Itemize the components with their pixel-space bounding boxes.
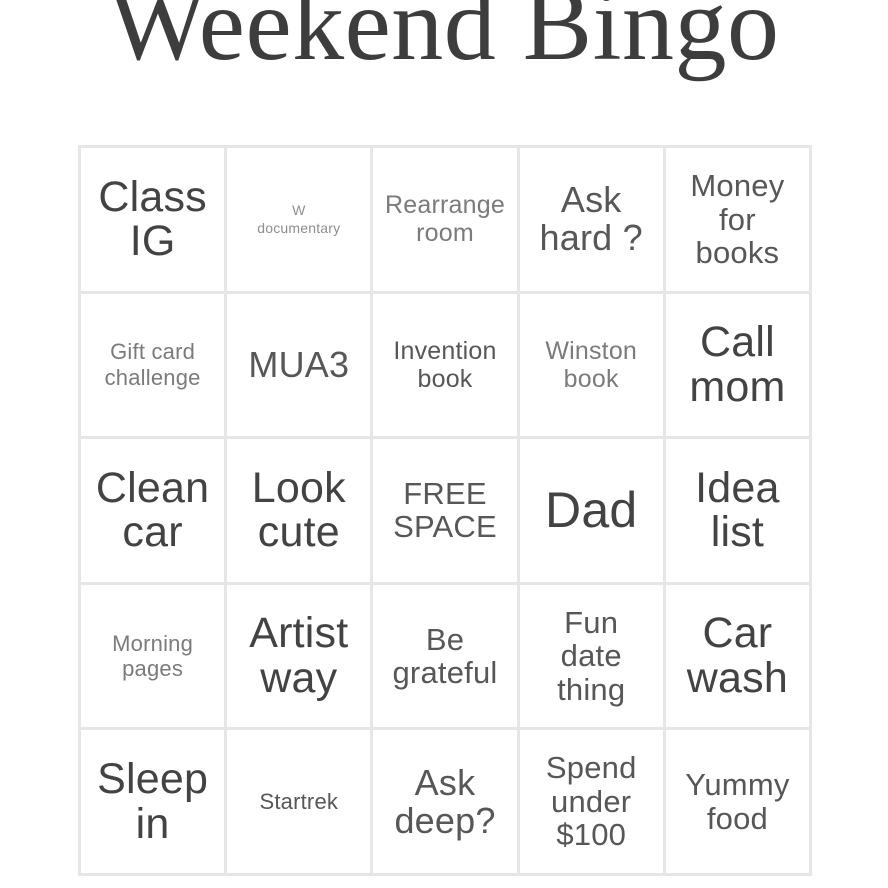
bingo-cell[interactable]: Look cute bbox=[227, 439, 370, 582]
bingo-cell[interactable]: Startrek bbox=[227, 730, 370, 873]
bingo-cell[interactable]: W documentary bbox=[227, 148, 370, 291]
bingo-cell-label: Be grateful bbox=[392, 623, 497, 690]
bingo-cell-label: Clean car bbox=[96, 466, 209, 555]
bingo-cell-label: Idea list bbox=[695, 466, 780, 555]
bingo-cell[interactable]: FREE SPACE bbox=[373, 439, 516, 582]
bingo-cell[interactable]: Artist way bbox=[227, 585, 370, 728]
bingo-cell-label: Startrek bbox=[259, 789, 338, 815]
bingo-cell[interactable]: Ask hard ? bbox=[520, 148, 663, 291]
bingo-cell[interactable]: Winston book bbox=[520, 294, 663, 437]
bingo-cell[interactable]: Call mom bbox=[666, 294, 809, 437]
bingo-grid: Class IGW documentaryRearrange roomAsk h… bbox=[78, 145, 812, 876]
bingo-cell[interactable]: Idea list bbox=[666, 439, 809, 582]
bingo-cell[interactable]: Yummy food bbox=[666, 730, 809, 873]
bingo-cell-label: Yummy food bbox=[685, 768, 789, 835]
bingo-cell-label: Morning pages bbox=[112, 631, 193, 682]
bingo-cell[interactable]: Ask deep? bbox=[373, 730, 516, 873]
bingo-cell-label: Spend under $100 bbox=[546, 751, 637, 851]
bingo-cell-label: Call mom bbox=[689, 320, 785, 409]
bingo-cell-label: Fun date thing bbox=[557, 606, 625, 706]
bingo-card-page: Weekend Bingo Class IGW documentaryRearr… bbox=[0, 0, 888, 888]
bingo-cell[interactable]: Class IG bbox=[81, 148, 224, 291]
bingo-cell[interactable]: Fun date thing bbox=[520, 585, 663, 728]
bingo-cell[interactable]: Car wash bbox=[666, 585, 809, 728]
page-title: Weekend Bingo bbox=[0, 0, 888, 80]
bingo-cell[interactable]: Spend under $100 bbox=[520, 730, 663, 873]
bingo-cell-label: Winston book bbox=[545, 337, 637, 393]
bingo-cell-label: MUA3 bbox=[248, 346, 349, 384]
bingo-cell[interactable]: Dad bbox=[520, 439, 663, 582]
bingo-grid-container: Class IGW documentaryRearrange roomAsk h… bbox=[78, 145, 812, 876]
bingo-cell[interactable]: MUA3 bbox=[227, 294, 370, 437]
bingo-cell[interactable]: Be grateful bbox=[373, 585, 516, 728]
bingo-cell-label: Sleep in bbox=[97, 757, 208, 846]
bingo-cell[interactable]: Clean car bbox=[81, 439, 224, 582]
bingo-cell-label: Money for books bbox=[690, 169, 784, 269]
bingo-cell-label: Invention book bbox=[393, 337, 496, 393]
bingo-cell-label: Dad bbox=[545, 485, 637, 536]
bingo-cell-label: W documentary bbox=[257, 201, 340, 237]
bingo-cell[interactable]: Money for books bbox=[666, 148, 809, 291]
bingo-cell[interactable]: Morning pages bbox=[81, 585, 224, 728]
bingo-cell-label: Class IG bbox=[98, 175, 207, 264]
bingo-cell[interactable]: Rearrange room bbox=[373, 148, 516, 291]
bingo-cell-label: Artist way bbox=[249, 611, 348, 700]
bingo-cell-label: Car wash bbox=[687, 611, 788, 700]
bingo-cell-label: Ask hard ? bbox=[540, 181, 643, 257]
bingo-cell[interactable]: Invention book bbox=[373, 294, 516, 437]
bingo-cell[interactable]: Gift card challenge bbox=[81, 294, 224, 437]
bingo-cell-label: Ask deep? bbox=[394, 764, 495, 840]
bingo-cell[interactable]: Sleep in bbox=[81, 730, 224, 873]
bingo-cell-label: FREE SPACE bbox=[393, 477, 497, 544]
bingo-cell-label: Rearrange room bbox=[385, 191, 505, 247]
bingo-cell-label: Look cute bbox=[252, 466, 346, 555]
bingo-cell-label: Gift card challenge bbox=[105, 339, 201, 390]
